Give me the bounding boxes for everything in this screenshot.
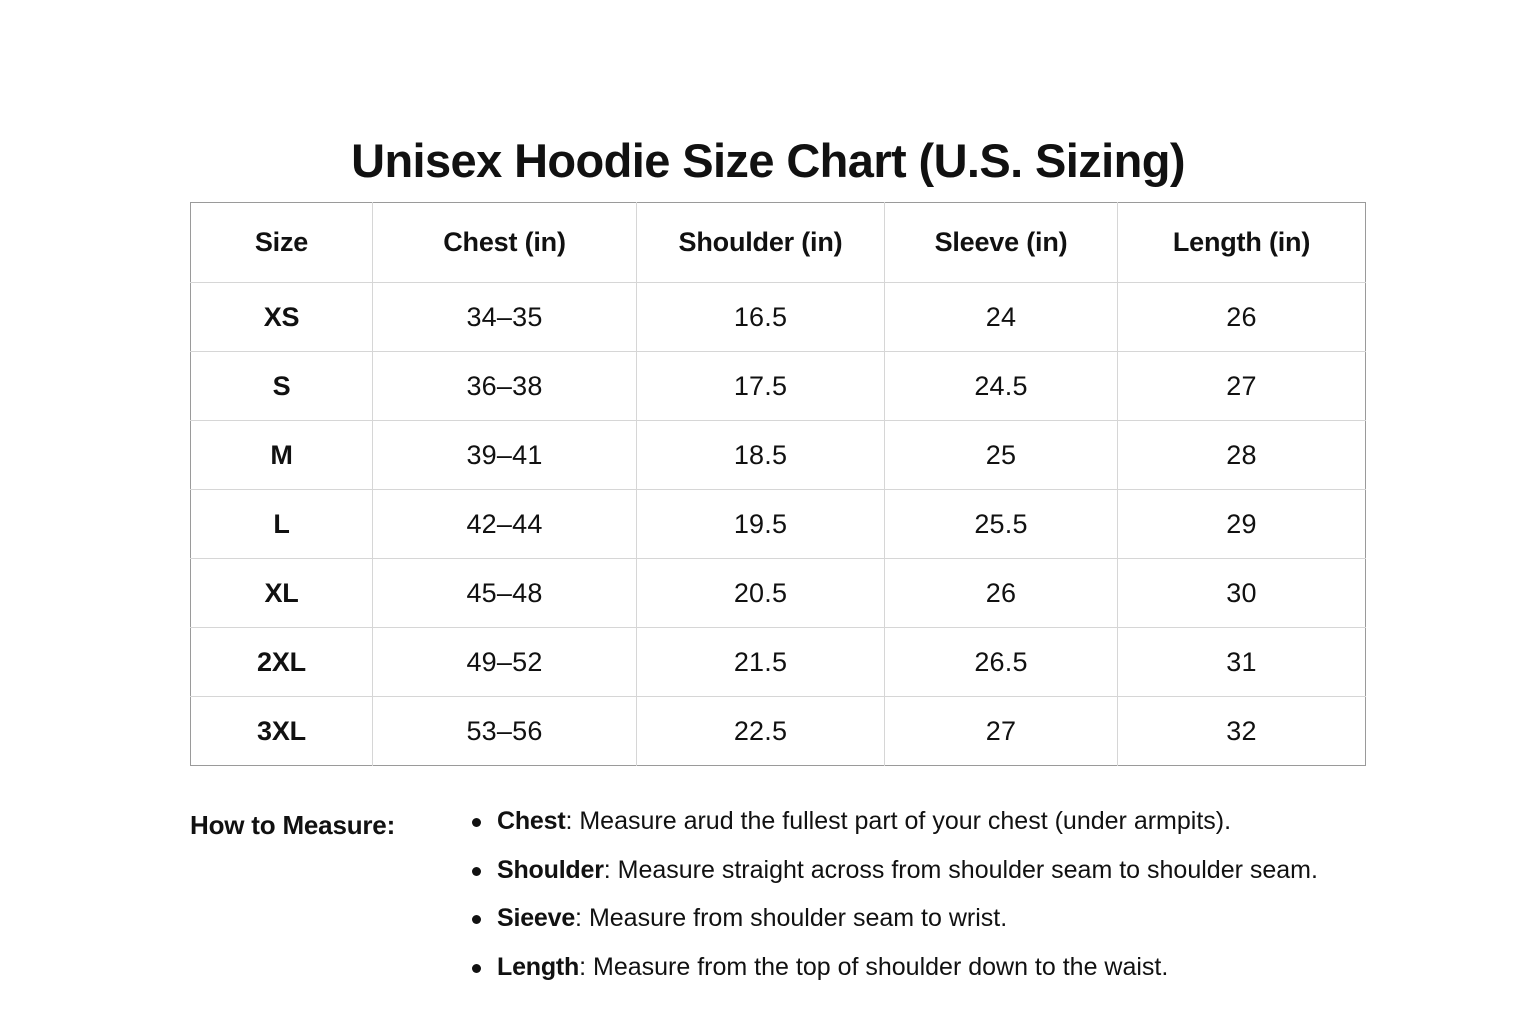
list-item: Chest: Measure arud the fullest part of … (470, 806, 1430, 838)
cell-shoulder: 17.5 (637, 352, 885, 421)
table-row: L 42–44 19.5 25.5 29 (191, 490, 1366, 559)
cell-length: 31 (1118, 628, 1366, 697)
table-row: XL 45–48 20.5 26 30 (191, 559, 1366, 628)
measure-description: : Measure straight across from shoulder … (604, 856, 1318, 884)
column-header-chest: Chest (in) (373, 203, 637, 283)
measure-term: Chest (497, 807, 565, 835)
measure-description: : Measure from the top of shoulder down … (579, 953, 1168, 981)
cell-chest: 39–41 (373, 421, 637, 490)
cell-shoulder: 20.5 (637, 559, 885, 628)
cell-sleeve: 24.5 (885, 352, 1118, 421)
cell-sleeve: 26.5 (885, 628, 1118, 697)
column-header-size: Size (191, 203, 373, 283)
measure-term: Shoulder (497, 856, 604, 884)
cell-size: 2XL (191, 628, 373, 697)
column-header-shoulder: Shoulder (in) (637, 203, 885, 283)
bullet-icon (472, 818, 481, 827)
cell-shoulder: 21.5 (637, 628, 885, 697)
cell-chest: 42–44 (373, 490, 637, 559)
cell-chest: 36–38 (373, 352, 637, 421)
size-chart-page: Unisex Hoodie Size Chart (U.S. Sizing) S… (0, 0, 1536, 1024)
table-row: 2XL 49–52 21.5 26.5 31 (191, 628, 1366, 697)
cell-length: 30 (1118, 559, 1366, 628)
column-header-sleeve: Sleeve (in) (885, 203, 1118, 283)
cell-length: 27 (1118, 352, 1366, 421)
size-chart-table: Size Chest (in) Shoulder (in) Sleeve (in… (190, 202, 1366, 766)
how-to-measure-heading: How to Measure: (190, 810, 395, 841)
column-header-length: Length (in) (1118, 203, 1366, 283)
cell-length: 32 (1118, 697, 1366, 766)
measure-description: : Measure arud the fullest part of your … (565, 807, 1231, 835)
bullet-icon (472, 915, 481, 924)
bullet-icon (472, 964, 481, 973)
bullet-icon (472, 867, 481, 876)
cell-chest: 49–52 (373, 628, 637, 697)
cell-size: S (191, 352, 373, 421)
table-row: 3XL 53–56 22.5 27 32 (191, 697, 1366, 766)
table-row: M 39–41 18.5 25 28 (191, 421, 1366, 490)
page-title: Unisex Hoodie Size Chart (U.S. Sizing) (0, 135, 1536, 187)
measure-term: Sieeve (497, 904, 575, 932)
cell-sleeve: 26 (885, 559, 1118, 628)
list-item: Shoulder: Measure straight across from s… (470, 855, 1430, 887)
measure-term: Length (497, 953, 579, 981)
table-header: Size Chest (in) Shoulder (in) Sleeve (in… (191, 203, 1366, 283)
cell-size: XS (191, 283, 373, 352)
table-header-row: Size Chest (in) Shoulder (in) Sleeve (in… (191, 203, 1366, 283)
cell-length: 26 (1118, 283, 1366, 352)
cell-sleeve: 25.5 (885, 490, 1118, 559)
cell-length: 29 (1118, 490, 1366, 559)
cell-length: 28 (1118, 421, 1366, 490)
cell-size: L (191, 490, 373, 559)
list-item: Sieeve: Measure from shoulder seam to wr… (470, 903, 1430, 935)
cell-chest: 53–56 (373, 697, 637, 766)
list-item: Length: Measure from the top of shoulder… (470, 952, 1430, 984)
cell-size: M (191, 421, 373, 490)
measure-description: : Measure from shoulder seam to wrist. (575, 904, 1007, 932)
cell-shoulder: 16.5 (637, 283, 885, 352)
cell-sleeve: 25 (885, 421, 1118, 490)
cell-chest: 45–48 (373, 559, 637, 628)
cell-sleeve: 27 (885, 697, 1118, 766)
cell-sleeve: 24 (885, 283, 1118, 352)
cell-shoulder: 22.5 (637, 697, 885, 766)
table-row: XS 34–35 16.5 24 26 (191, 283, 1366, 352)
cell-chest: 34–35 (373, 283, 637, 352)
cell-shoulder: 18.5 (637, 421, 885, 490)
how-to-measure-list: Chest: Measure arud the fullest part of … (470, 806, 1430, 983)
cell-size: XL (191, 559, 373, 628)
size-chart-table-container: Size Chest (in) Shoulder (in) Sleeve (in… (190, 202, 1365, 766)
cell-size: 3XL (191, 697, 373, 766)
table-row: S 36–38 17.5 24.5 27 (191, 352, 1366, 421)
cell-shoulder: 19.5 (637, 490, 885, 559)
table-body: XS 34–35 16.5 24 26 S 36–38 17.5 24.5 27… (191, 283, 1366, 766)
